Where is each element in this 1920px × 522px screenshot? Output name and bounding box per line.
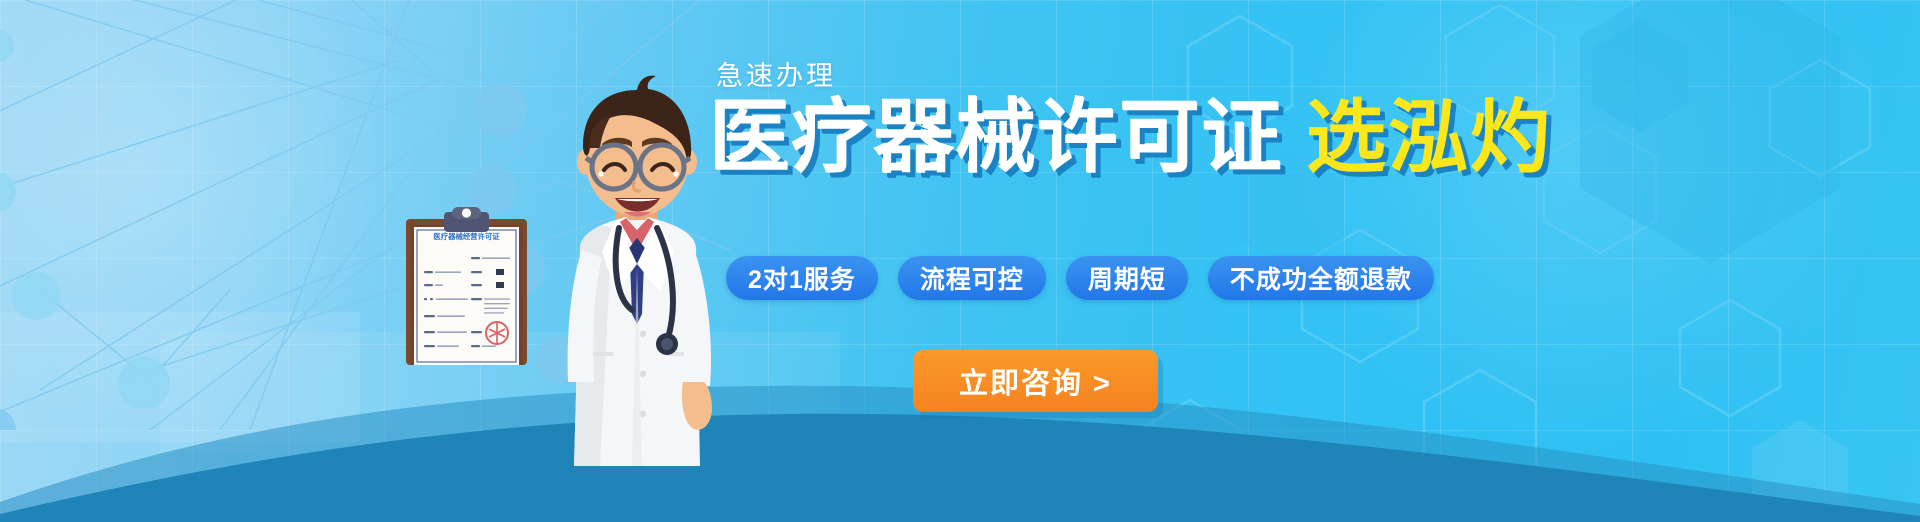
cta-container: 立即咨询 >: [913, 350, 1158, 412]
feature-pill-list: 2对1服务 流程可控 周期短 不成功全额退款: [726, 256, 1434, 300]
feature-pill-2[interactable]: 流程可控: [898, 256, 1046, 300]
feature-pill-4[interactable]: 不成功全额退款: [1208, 256, 1434, 300]
banner-content: 急速办理 医疗器械许可证选泓灼 2对1服务 流程可控 周期短 不成功全额退款 立…: [716, 0, 1816, 522]
eyebrow-text: 急速办理: [716, 54, 836, 93]
clipboard: 医疗器械经营许可证: [404, 205, 529, 365]
headline-accent: 选泓灼: [1306, 93, 1552, 182]
feature-pill-3[interactable]: 周期短: [1066, 256, 1188, 300]
consult-now-button[interactable]: 立即咨询 >: [913, 350, 1158, 412]
promo-banner: 医疗器械经营许可证: [0, 0, 1920, 522]
headline: 医疗器械许可证选泓灼: [710, 98, 1552, 178]
clipboard-graphic: [404, 205, 529, 365]
feature-pill-1[interactable]: 2对1服务: [726, 256, 878, 300]
headline-primary: 医疗器械许可证: [710, 93, 1284, 182]
clipboard-document-title: 医疗器械经营许可证: [418, 231, 515, 241]
